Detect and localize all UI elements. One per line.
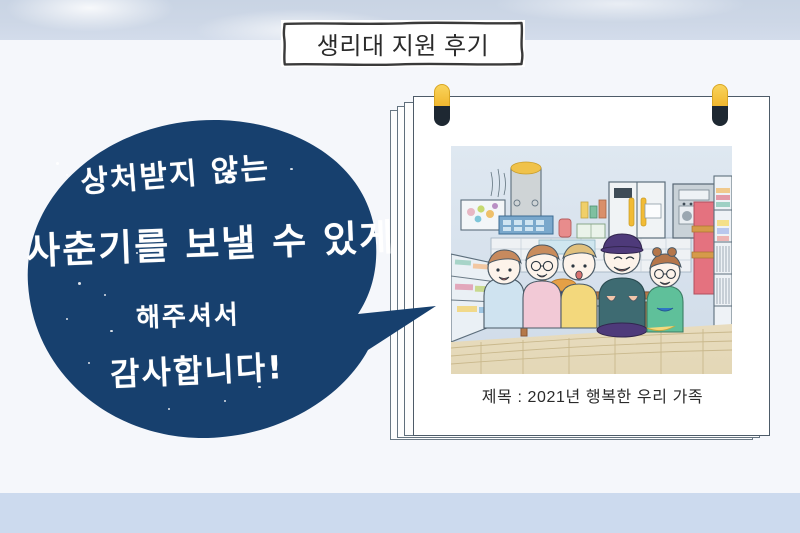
poster-canvas: 생리대 지원 후기 [0,0,800,533]
testimonial-speech-bubble: 상처받지 않는 사춘기를 보낼 수 있게 해주셔서 감사합니다! [18,118,448,448]
bubble-speck [258,386,261,388]
paper-sheet-front: 제목 : 2021년 행복한 우리 가족 [413,96,770,436]
bubble-speck [104,294,106,296]
clip-cap [712,106,728,126]
artwork-caption: 제목 : 2021년 행복한 우리 가족 [414,383,771,407]
bubble-speck [168,408,170,410]
paper-clip-right-icon [712,84,728,128]
bubble-speck [110,330,113,332]
family-drawing-illustration [451,146,732,374]
speech-bubble-shape [18,118,448,448]
bubble-speck [66,318,68,320]
paper-clip-left-icon [434,84,450,128]
page-title-text: 생리대 지원 후기 [317,26,489,61]
page-title-chip: 생리대 지원 후기 [281,20,525,67]
bubble-speck [224,400,226,402]
background-bottom-band [0,493,800,533]
clip-cap [434,106,450,126]
bubble-speck [66,174,68,176]
bubble-speck [56,162,59,165]
artwork-photo [451,146,732,374]
bubble-speck [290,168,293,170]
bubble-speck [136,252,138,254]
bubble-speck [78,282,81,285]
bubble-speck [88,362,90,364]
